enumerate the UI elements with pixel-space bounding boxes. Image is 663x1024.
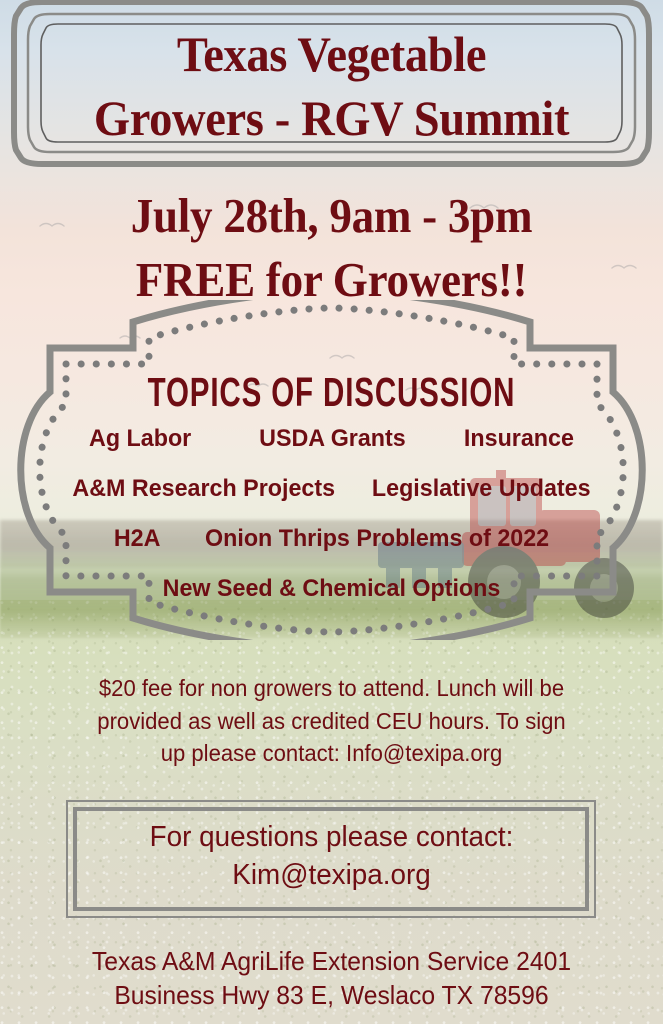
topic-row: Ag LaborUSDA GrantsInsurance xyxy=(10,427,653,451)
topic-item: Insurance xyxy=(464,425,574,452)
page-title: Texas Vegetable Growers - RGV Summit xyxy=(23,22,640,150)
footer-line-2: Business Hwy 83 E, Weslaco TX 78596 xyxy=(17,978,647,1012)
topics-heading: TOPICS OF DISCUSSION xyxy=(93,372,570,413)
contact-email: Kim@texipa.org xyxy=(13,857,649,895)
topic-item: USDA Grants xyxy=(259,425,406,452)
topic-item: Ag Labor xyxy=(89,425,191,452)
topic-row: New Seed & Chemical Options xyxy=(10,577,653,601)
event-date-block: July 28th, 9am - 3pm FREE for Growers!! xyxy=(27,184,637,311)
topic-row: A&M Research ProjectsLegislative Updates xyxy=(10,477,653,501)
fee-line-2: provided as well as credited CEU hours. … xyxy=(57,705,605,738)
signup-email-line: up please contact: Info@texipa.org xyxy=(57,737,605,770)
footer-line-1: Texas A&M AgriLife Extension Service 240… xyxy=(17,944,647,978)
topic-item: Onion Thrips Problems of 2022 xyxy=(205,525,549,552)
event-datetime: July 28th, 9am - 3pm xyxy=(27,184,637,248)
fee-paragraph: $20 fee for non growers to attend. Lunch… xyxy=(57,672,605,770)
topic-item: A&M Research Projects xyxy=(72,475,335,502)
fee-line-1: $20 fee for non growers to attend. Lunch… xyxy=(57,672,605,705)
topic-item: Legislative Updates xyxy=(372,475,591,502)
title-line-2: Growers - RGV Summit xyxy=(23,86,640,150)
flyer-poster: Texas Vegetable Growers - RGV Summit Jul… xyxy=(0,0,663,1024)
footer-address: Texas A&M AgriLife Extension Service 240… xyxy=(17,944,647,1013)
contact-prompt: For questions please contact: xyxy=(13,819,649,857)
topic-row: H2AOnion Thrips Problems of 2022 xyxy=(10,527,653,551)
contact-text: For questions please contact: Kim@texipa… xyxy=(13,819,649,894)
topic-item: New Seed & Chemical Options xyxy=(163,575,501,602)
title-line-1: Texas Vegetable xyxy=(23,22,640,86)
topic-item: H2A xyxy=(114,525,161,552)
topics-section: TOPICS OF DISCUSSION Ag LaborUSDA Grants… xyxy=(0,372,663,627)
